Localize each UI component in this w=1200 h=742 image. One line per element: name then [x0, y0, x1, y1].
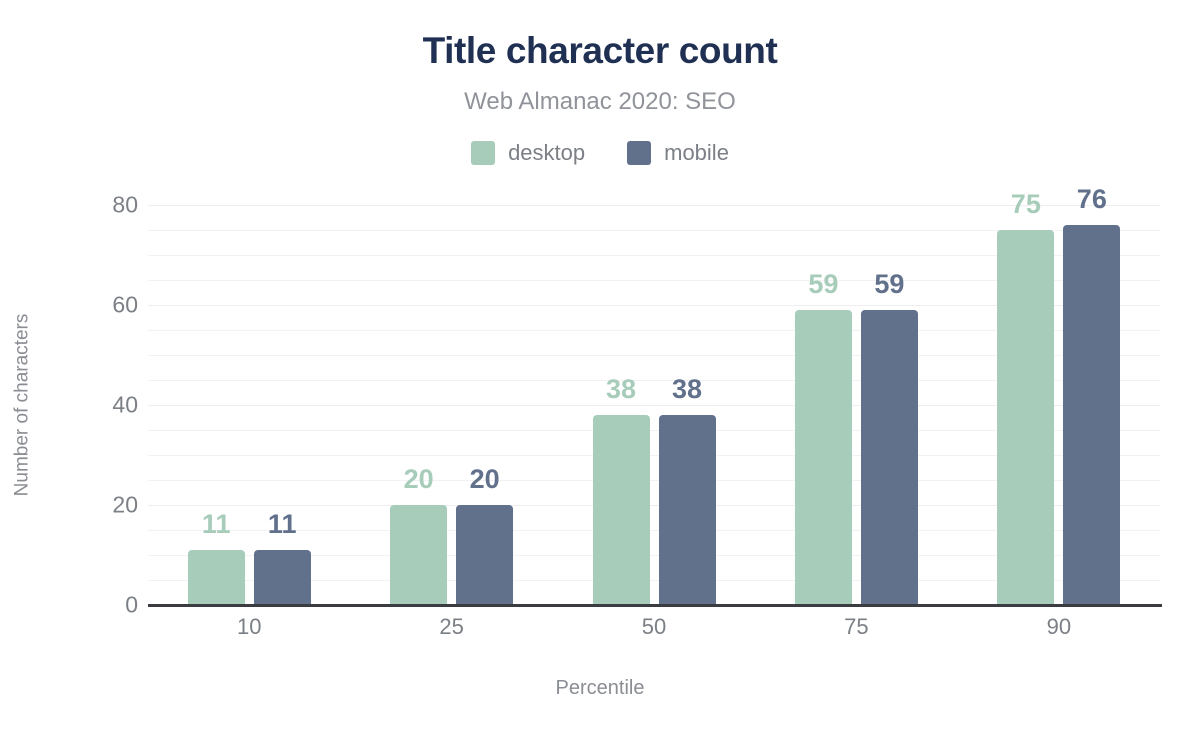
chart-title: Title character count: [0, 30, 1200, 73]
bar-slot-mobile: 59: [861, 205, 918, 605]
chart-legend: desktop mobile: [0, 141, 1200, 165]
bar-mobile[interactable]: [254, 550, 311, 605]
bar-group: 3838: [553, 205, 755, 605]
bar-slot-mobile: 38: [659, 205, 716, 605]
bar-value-label: 59: [874, 271, 904, 298]
bar-slot-desktop: 38: [593, 205, 650, 605]
bar-slot-desktop: 11: [188, 205, 245, 605]
bar-desktop[interactable]: [390, 505, 447, 605]
bar-slot-mobile: 76: [1063, 205, 1120, 605]
bar-value-label: 38: [672, 376, 702, 403]
x-axis-tick-label: 50: [553, 616, 755, 638]
bar-group: 7576: [958, 205, 1160, 605]
x-axis-title: Percentile: [0, 678, 1200, 698]
bar-desktop[interactable]: [593, 415, 650, 605]
bar-value-label: 11: [268, 511, 297, 538]
y-axis-tick-label: 40: [18, 394, 138, 417]
bar-value-label: 59: [808, 271, 838, 298]
legend-item-mobile[interactable]: mobile: [627, 141, 729, 165]
bar-desktop[interactable]: [795, 310, 852, 605]
x-axis-tick-label: 75: [755, 616, 957, 638]
legend-swatch-desktop: [471, 141, 495, 165]
bar-slot-mobile: 11: [254, 205, 311, 605]
x-axis-tick-label: 10: [148, 616, 350, 638]
y-axis-tick-label: 60: [18, 294, 138, 317]
bar-value-label: 75: [1011, 191, 1041, 218]
bar-desktop[interactable]: [997, 230, 1054, 605]
bar-value-label: 11: [202, 511, 231, 538]
bar-slot-desktop: 20: [390, 205, 447, 605]
y-axis-tick-label: 80: [18, 194, 138, 217]
legend-label-mobile: mobile: [664, 142, 729, 164]
bar-group: 5959: [755, 205, 957, 605]
bar-group: 2020: [350, 205, 552, 605]
legend-swatch-mobile: [627, 141, 651, 165]
x-axis-tick-label: 90: [958, 616, 1160, 638]
x-axis-tick-label: 25: [350, 616, 552, 638]
bar-desktop[interactable]: [188, 550, 245, 605]
bar-mobile[interactable]: [456, 505, 513, 605]
bar-mobile[interactable]: [1063, 225, 1120, 605]
x-axis-ticks: 1025507590: [148, 616, 1160, 638]
bar-slot-desktop: 59: [795, 205, 852, 605]
chart-container: Title character count Web Almanac 2020: …: [0, 0, 1200, 742]
bar-value-label: 20: [404, 466, 434, 493]
legend-label-desktop: desktop: [508, 142, 585, 164]
bar-slot-desktop: 75: [997, 205, 1054, 605]
y-axis-tick-label: 20: [18, 494, 138, 517]
bar-value-label: 76: [1077, 186, 1107, 213]
bar-groups: 11112020383859597576: [148, 205, 1160, 605]
bar-value-label: 38: [606, 376, 636, 403]
bar-mobile[interactable]: [861, 310, 918, 605]
bar-mobile[interactable]: [659, 415, 716, 605]
bar-group: 1111: [148, 205, 350, 605]
chart-subtitle: Web Almanac 2020: SEO: [0, 88, 1200, 116]
x-axis-line: [148, 604, 1162, 607]
plot-area: 11112020383859597576: [148, 205, 1160, 605]
bar-slot-mobile: 20: [456, 205, 513, 605]
legend-item-desktop[interactable]: desktop: [471, 141, 585, 165]
bar-value-label: 20: [470, 466, 500, 493]
y-axis-tick-label: 0: [18, 594, 138, 617]
